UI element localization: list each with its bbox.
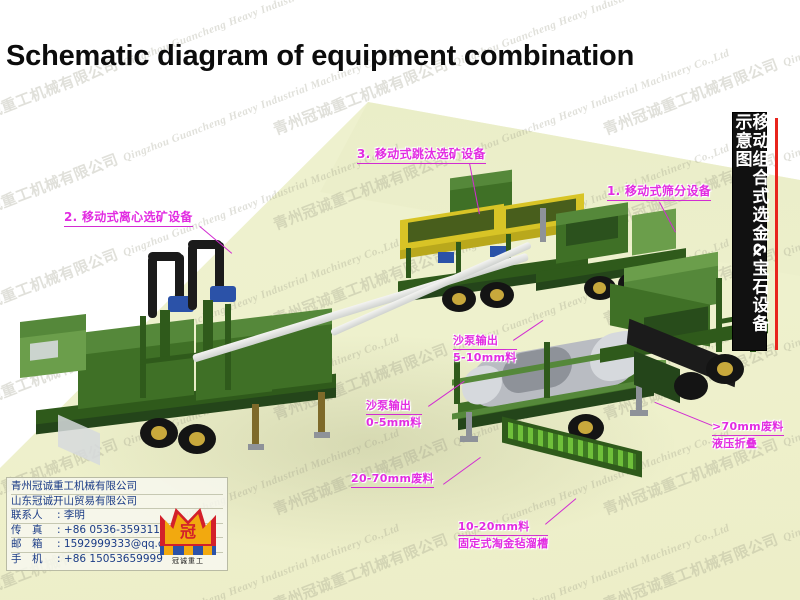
company-logo: 冠 冠诚重工 (160, 506, 216, 568)
callout-item-2: 2. 移动式离心选矿设备 (64, 208, 193, 227)
logo-base (160, 546, 216, 555)
callout-waste-70-line1: >70mm废料 (712, 420, 784, 433)
diagram-canvas: 青州冠诚重工机械有限公司 Qingzhou Guancheng Heavy In… (0, 0, 800, 600)
callout-item-1: 1. 移动式筛分设备 (607, 182, 711, 201)
contact-label-email: 邮 箱 (11, 538, 57, 552)
page-title: Schematic diagram of equipment combinati… (6, 40, 634, 73)
contact-label-mobile: 手 机 (11, 553, 57, 567)
logo-caption: 冠诚重工 (160, 556, 216, 566)
contact-value-person: 李明 (64, 509, 85, 521)
logo-monogram: 冠 (180, 518, 196, 542)
contact-value-fax: +86 0536-3593111 (64, 524, 167, 536)
contact-company-1: 青州冠诚重工机械有限公司 (11, 480, 223, 495)
vertical-banner: 移动组合式选金&宝石设备示意图 (732, 112, 767, 351)
callout-pump-5-10: 沙泵输出 5-10mm料 (453, 334, 517, 365)
callout-waste-70: >70mm废料 液压折叠 (712, 420, 784, 451)
contact-label-person: 联系人 (11, 509, 57, 523)
banner-accent-line (775, 118, 778, 350)
contact-value-mobile: +86 15053659999 (64, 553, 163, 565)
callout-item-3: 3. 移动式跳汰选矿设备 (357, 145, 486, 164)
trailer-tire (674, 372, 708, 400)
contact-label-fax: 传 真 (11, 524, 57, 538)
callout-pump-0-5-line1: 沙泵输出 (366, 399, 411, 412)
callout-pump-5-10-line1: 沙泵输出 (453, 334, 498, 347)
callout-waste-70-line2: 液压折叠 (712, 435, 784, 451)
callout-pump-0-5-line2: 0-5mm料 (366, 414, 422, 430)
callout-pump-5-10-line2: 5-10mm料 (453, 349, 517, 365)
vertical-banner-text: 移动组合式选金&宝石设备示意图 (733, 113, 767, 350)
callout-sluice-line2: 固定式淘金毡溜槽 (458, 535, 548, 551)
callout-sluice-line1: 10-20mm料 (458, 520, 530, 533)
centrifugal-motor-2 (210, 286, 236, 302)
callout-sluice: 10-20mm料 固定式淘金毡溜槽 (458, 520, 548, 551)
callout-pump-0-5: 沙泵输出 0-5mm料 (366, 399, 422, 430)
callout-waste-20-70: 20-70mm废料 (351, 470, 434, 488)
